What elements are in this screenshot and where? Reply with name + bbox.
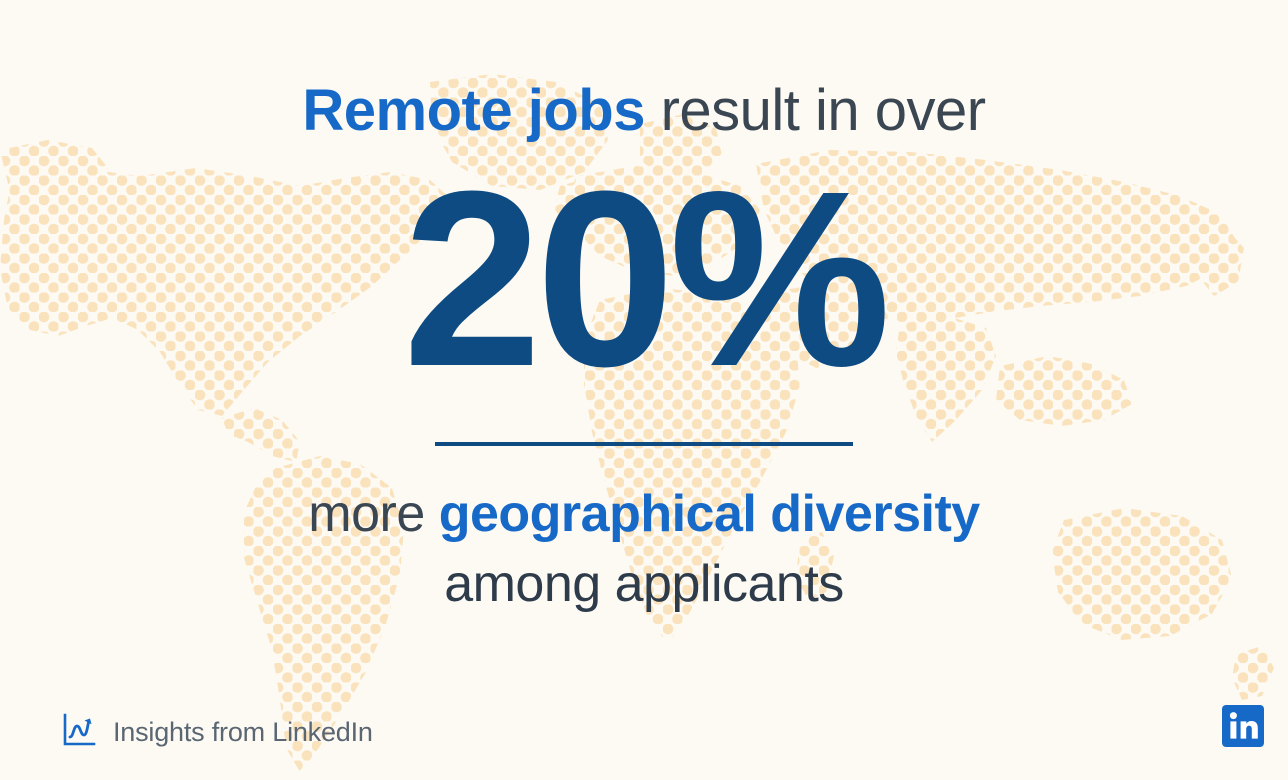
divider-rule: [435, 442, 853, 446]
insights-label: Insights from LinkedIn: [113, 717, 373, 748]
chart-growth-icon: [62, 713, 96, 752]
infographic-canvas: Remote jobs result in over 20% more geog…: [0, 0, 1288, 780]
stat-value: 20%: [403, 164, 885, 394]
headline: Remote jobs result in over: [302, 82, 985, 140]
infographic-content: Remote jobs result in over 20% more geog…: [0, 0, 1288, 780]
headline-accent: Remote jobs: [302, 78, 645, 143]
subline-secondary: among applicants: [444, 558, 844, 610]
subline-primary: more geographical diversity: [308, 488, 979, 540]
insights-attribution: Insights from LinkedIn: [62, 713, 373, 752]
subline-accent: geographical diversity: [439, 485, 980, 543]
headline-rest: result in over: [645, 78, 986, 143]
linkedin-logo[interactable]: [1222, 705, 1264, 752]
subline-lead: more: [308, 485, 438, 543]
